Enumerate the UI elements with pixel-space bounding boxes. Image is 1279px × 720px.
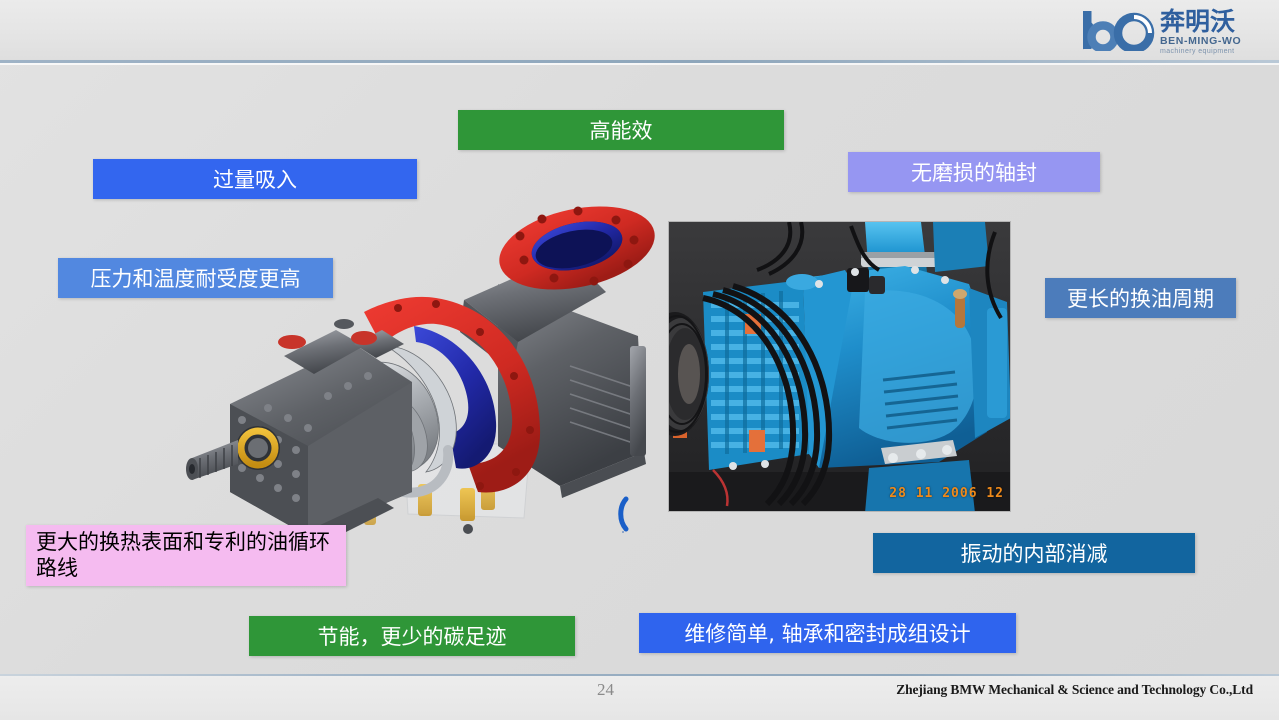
callout-higher-pressure-temperature[interactable]: 压力和温度耐受度更高 bbox=[58, 258, 333, 298]
callout-larger-heat-exchange-surface[interactable]: 更大的换热表面和专利的油循环路线 bbox=[26, 525, 346, 586]
page-number: 24 bbox=[597, 680, 614, 700]
screw-compressor-cutaway-render bbox=[168, 196, 656, 544]
photo-timestamp: 28 11 2006 12 bbox=[889, 486, 1004, 501]
company-logo[interactable]: 奔明沃 BEN-MING-WO machinery equipment bbox=[1083, 4, 1271, 60]
company-name-footer: Zhejiang BMW Mechanical & Science and Te… bbox=[896, 682, 1253, 698]
callout-longer-oil-change-interval[interactable]: 更长的换油周期 bbox=[1045, 278, 1236, 318]
callout-internal-vibration-damping[interactable]: 振动的内部消减 bbox=[873, 533, 1195, 573]
blue-screw-compressor-photo: 28 11 2006 12 bbox=[668, 221, 1011, 512]
callout-easy-maintenance-bearing-seal[interactable]: 维修简单, 轴承和密封成组设计 bbox=[639, 613, 1016, 653]
bo-monogram-icon bbox=[1083, 9, 1157, 56]
callout-high-efficiency[interactable]: 高能效 bbox=[458, 110, 784, 150]
callout-over-suction[interactable]: 过量吸入 bbox=[93, 159, 417, 199]
header-divider-highlight bbox=[0, 63, 1279, 65]
presentation-slide: 奔明沃 BEN-MING-WO machinery equipment bbox=[0, 0, 1279, 720]
blue-arc-watermark-icon bbox=[612, 495, 638, 533]
logo-tagline: machinery equipment bbox=[1160, 48, 1241, 55]
callout-energy-saving-low-carbon[interactable]: 节能，更少的碳足迹 bbox=[249, 616, 575, 656]
logo-chinese-name: 奔明沃 bbox=[1160, 9, 1241, 34]
logo-english-name: BEN-MING-WO bbox=[1160, 36, 1241, 47]
callout-wear-free-shaft-seal[interactable]: 无磨损的轴封 bbox=[848, 152, 1100, 192]
